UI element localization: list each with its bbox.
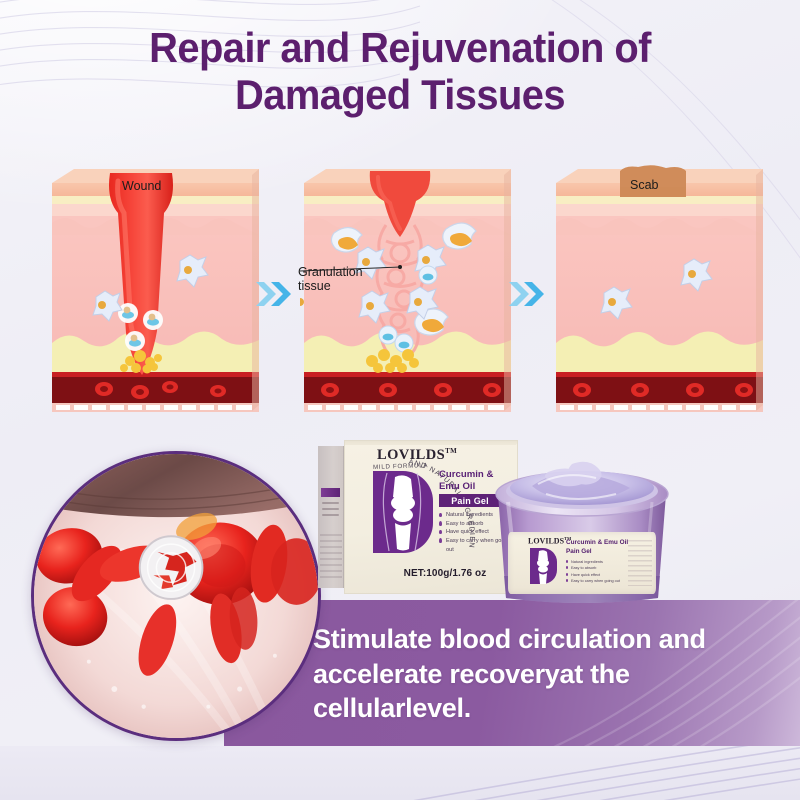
skin-panel-wound (48, 165, 263, 415)
skin-panel-scab (552, 165, 767, 415)
jar-knee-icon (530, 548, 557, 584)
product-jar: LOVILDSTM Curcumin & Emu Oil Pain Gel Na… (486, 458, 678, 608)
carton-side-panel (318, 446, 344, 588)
jar-brand-text: LOVILDS (528, 537, 564, 546)
jar-brand: LOVILDSTM (528, 536, 571, 546)
bottom-decoration-strip (0, 746, 800, 800)
jar-category-text: Pain Gel (566, 548, 592, 555)
banner-line-2: accelerate recoveryat the (313, 657, 743, 692)
double-chevron-right-icon (507, 278, 547, 310)
label-wound: Wound (122, 179, 161, 193)
carton-side-line (322, 502, 339, 504)
label-scab: Scab (630, 178, 659, 192)
product-group: LOVILDSTM MILD FORMULA AND NATURAL INGRE… (318, 432, 683, 612)
banner-line-1: Stimulate blood circulation and (313, 622, 743, 657)
knee-joint-icon (373, 471, 433, 553)
title-line-1: Repair and Rejuvenation of (149, 24, 651, 71)
double-chevron-right-icon (254, 278, 294, 310)
carton-top-fold (344, 440, 518, 445)
wound-healing-diagram: Wound Granulation tissue Scab (0, 165, 800, 420)
jar-product-name-text: Curcumin & Emu Oil (566, 539, 628, 546)
banner-line-3: cellularlevel. (313, 691, 743, 726)
jar-label-side-text (628, 540, 652, 586)
carton-brand-tm: TM (445, 447, 457, 455)
jar-label: LOVILDSTM Curcumin & Emu Oil Pain Gel Na… (508, 532, 656, 594)
title-line-2: Damaged Tissues (20, 71, 780, 118)
banner-text: Stimulate blood circulation and accelera… (313, 622, 743, 726)
carton-side-vertical-text (320, 534, 342, 580)
carton-side-line (322, 514, 339, 516)
label-granulation-tissue: Granulation tissue (298, 265, 363, 294)
carton-side-line (322, 508, 339, 510)
infographic-canvas: Repair and Rejuvenation of Damaged Tissu… (0, 0, 800, 800)
blood-cells-circle (31, 451, 321, 741)
carton-brand-text: LOVILDS (377, 447, 445, 463)
page-title: Repair and Rejuvenation of Damaged Tissu… (20, 24, 780, 118)
carton-side-chip (321, 488, 340, 497)
carton-tagline: MILD FORMULA (373, 462, 428, 471)
